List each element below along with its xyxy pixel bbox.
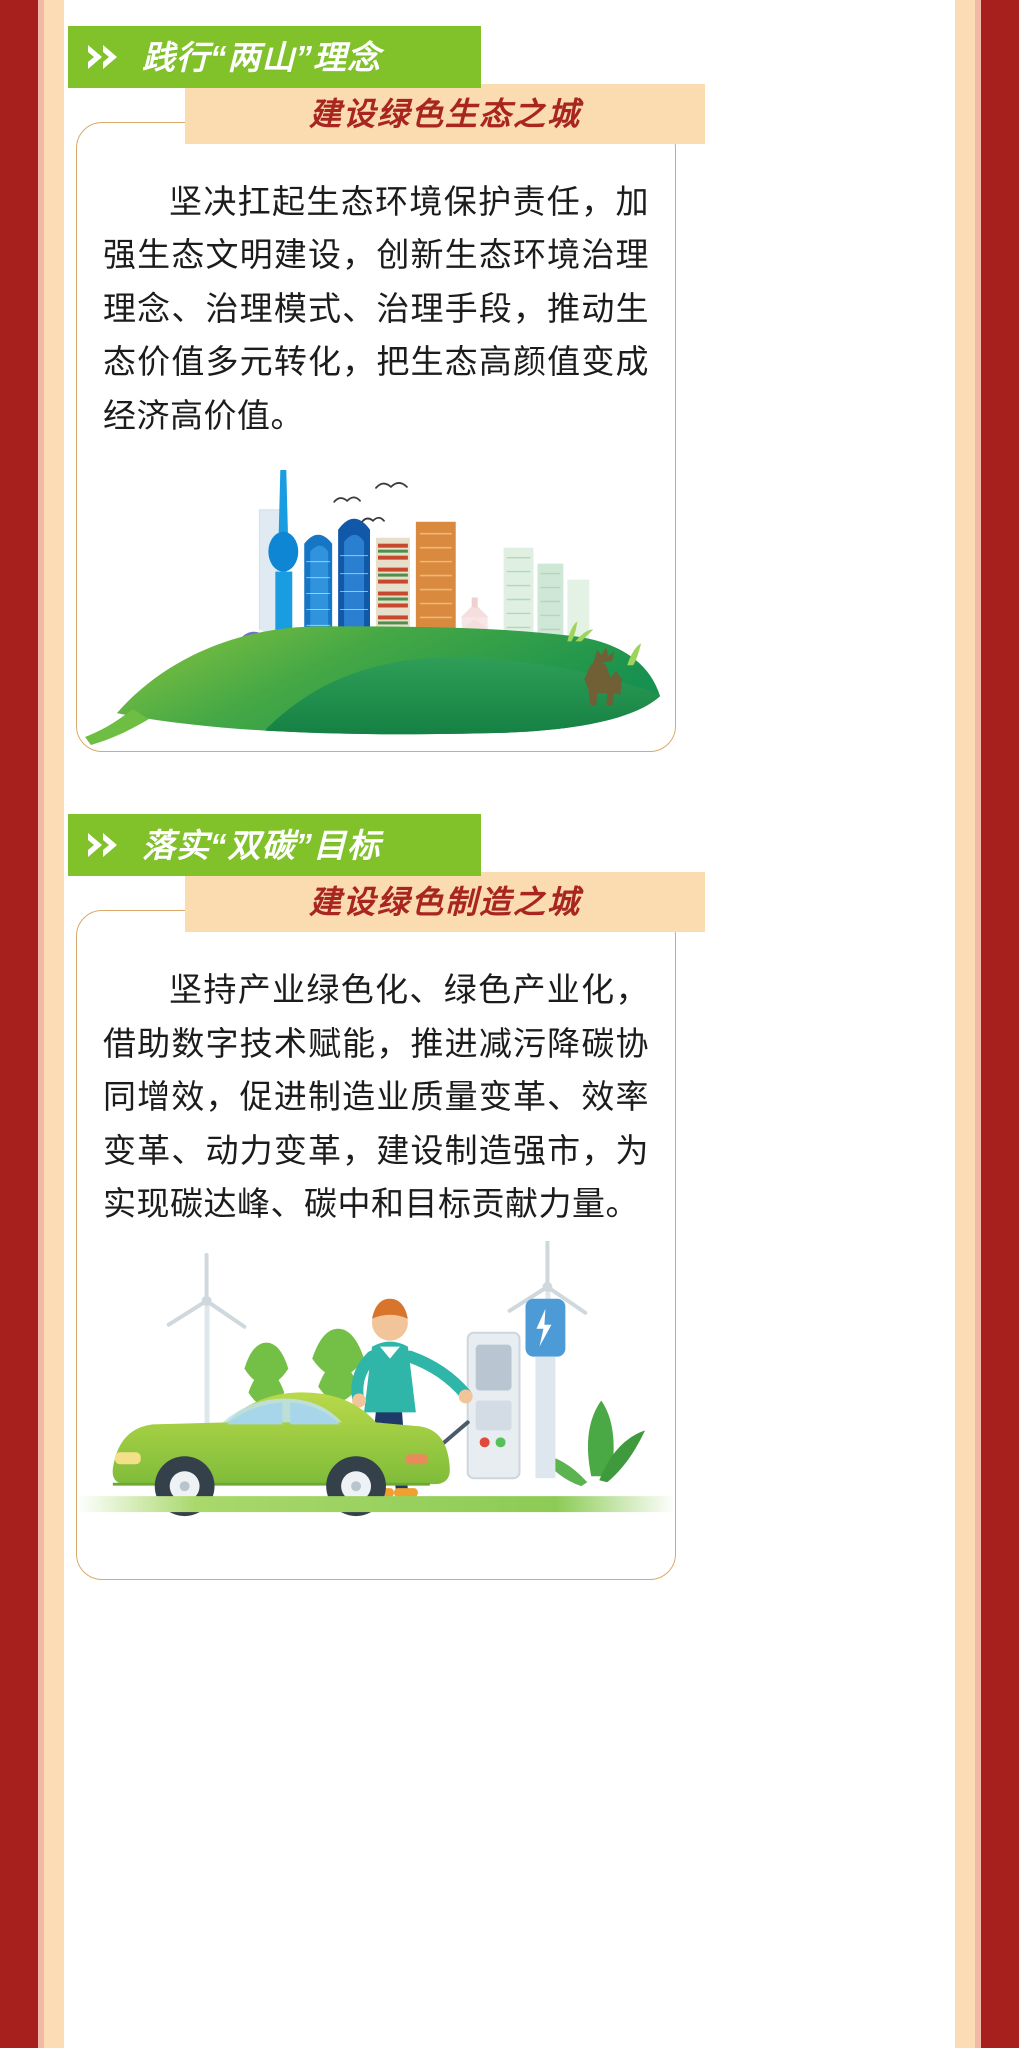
section-subtitle-banner-1: 建设绿色生态之城 <box>185 84 705 144</box>
right-decorative-border <box>951 0 1019 2048</box>
charging-station-shape <box>468 1298 566 1477</box>
section-body-text-1: 坚决扛起生态环境保护责任，加强生态文明建设，创新生态环境治理理念、治理模式、治理… <box>77 175 675 442</box>
section-subtitle-label-2: 建设绿色制造之城 <box>309 886 581 918</box>
double-chevron-right-icon <box>86 42 126 72</box>
birds-icon <box>334 483 407 522</box>
section-card-1: 坚决扛起生态环境保护责任，加强生态文明建设，创新生态环境治理理念、治理模式、治理… <box>76 122 676 752</box>
section-eco-city: 践行“两山”理念 建设绿色生态之城 坚决扛起生态环境保护责任，加强生态文明建设，… <box>68 0 951 752</box>
leaf-stem-shape <box>85 709 149 745</box>
poster-content: 践行“两山”理念 建设绿色生态之城 坚决扛起生态环境保护责任，加强生态文明建设，… <box>68 0 951 2048</box>
status-light-green <box>496 1437 506 1447</box>
section-body-text-2: 坚持产业绿色化、绿色产业化，借助数字技术赋能，推进减污降碳协同增效，促进制造业质… <box>77 963 675 1230</box>
section-header-banner-2: 落实“双碳”目标 <box>68 814 481 876</box>
ev-charging-illustration <box>77 1241 675 1530</box>
section-header-label-1: 践行“两山”理念 <box>142 41 381 74</box>
double-chevron-right-icon <box>86 830 126 860</box>
section-card-2: 坚持产业绿色化、绿色产业化，借助数字技术赋能，推进减污降碳协同增效，促进制造业质… <box>76 910 676 1580</box>
headlight-shape <box>115 1452 141 1464</box>
left-decorative-border <box>0 0 68 2048</box>
leaf-city-illustration <box>77 452 675 751</box>
poster-page: 践行“两山”理念 建设绿色生态之城 坚决扛起生态环境保护责任，加强生态文明建设，… <box>0 0 1019 2048</box>
leaf-city-graphic <box>77 452 675 751</box>
section-subtitle-banner-2: 建设绿色制造之城 <box>185 872 705 932</box>
section-green-manufacturing: 落实“双碳”目标 建设绿色制造之城 坚持产业绿色化、绿色产业化，借助数字技术赋能… <box>68 752 951 1580</box>
taillight-shape <box>406 1454 428 1464</box>
status-light-red <box>480 1437 490 1447</box>
section-header-banner-1: 践行“两山”理念 <box>68 26 481 88</box>
ev-charging-graphic <box>77 1241 675 1530</box>
section-subtitle-label-1: 建设绿色生态之城 <box>309 98 581 130</box>
ground-strip <box>77 1496 675 1512</box>
section-header-label-2: 落实“双碳”目标 <box>142 829 381 862</box>
